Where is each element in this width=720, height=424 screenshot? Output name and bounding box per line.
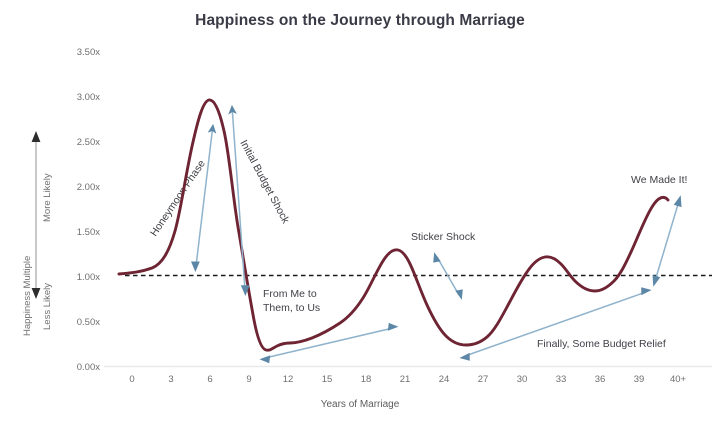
chart-container: Happiness on the Journey through Marriag… — [0, 0, 720, 424]
y-axis-direction-arrow — [32, 131, 41, 299]
arrow-honeymoon-phase — [191, 125, 213, 272]
chart-svg-layer — [0, 0, 720, 424]
arrow-we-made-it — [653, 195, 682, 286]
arrow-budget-relief — [459, 287, 651, 361]
